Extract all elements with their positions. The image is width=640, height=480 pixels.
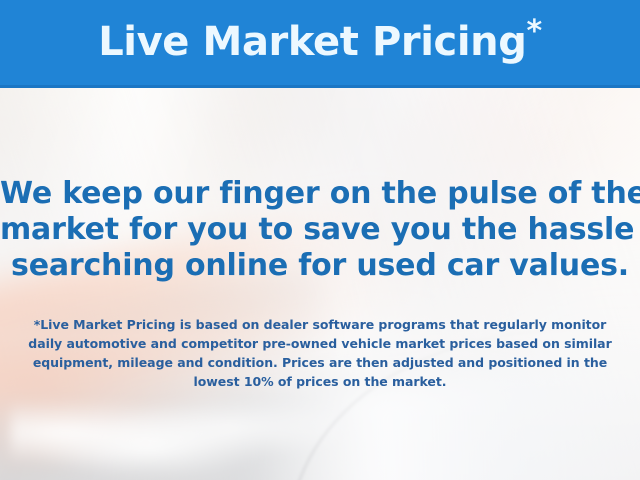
disclaimer-line-3: equipment, mileage and condition. Prices… — [0, 353, 640, 372]
disclaimer: *Live Market Pricing is based on dealer … — [0, 315, 640, 391]
disclaimer-line-4: lowest 10% of prices on the market. — [0, 372, 640, 391]
headline-line-1: We keep our finger on the pulse of the — [0, 176, 640, 212]
disclaimer-line-1: *Live Market Pricing is based on dealer … — [0, 315, 640, 334]
header-band: Live Market Pricing* — [0, 0, 640, 88]
headline-line-3: searching online for used car values. — [0, 248, 640, 284]
page-title: Live Market Pricing* — [98, 22, 542, 62]
disclaimer-line-2: daily automotive and competitor pre-owne… — [0, 334, 640, 353]
live-market-pricing-card: Live Market Pricing* We keep our finger … — [0, 0, 640, 480]
headline: We keep our finger on the pulse of the m… — [0, 176, 640, 284]
footnote-asterisk: * — [526, 14, 541, 49]
page-title-text: Live Market Pricing — [98, 19, 526, 65]
headline-line-2: market for you to save you the hassle of — [0, 212, 640, 248]
